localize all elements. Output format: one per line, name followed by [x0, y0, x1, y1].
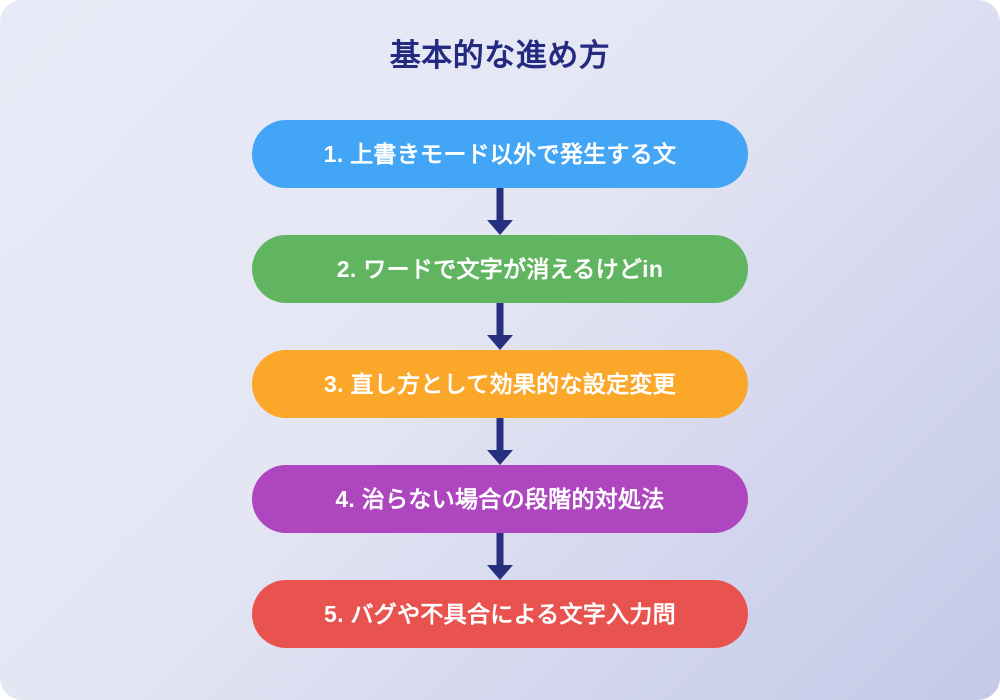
connector-arrow-4-5 — [252, 533, 748, 580]
arrow-down-icon — [487, 565, 513, 580]
step-label-2: 2. ワードで文字が消えるけどin — [337, 258, 663, 281]
step-label-4: 4. 治らない場合の段階的対処法 — [335, 488, 664, 511]
arrow-down-icon — [487, 220, 513, 235]
step-row: 2. ワードで文字が消えるけどin — [252, 235, 748, 303]
step-node-2[interactable]: 2. ワードで文字が消えるけどin — [252, 235, 748, 303]
step-node-3[interactable]: 3. 直し方として効果的な設定変更 — [252, 350, 748, 418]
arrow-down-icon — [487, 450, 513, 465]
arrow-line-icon — [497, 418, 504, 452]
step-label-3: 3. 直し方として効果的な設定変更 — [324, 373, 676, 396]
step-row: 1. 上書きモード以外で発生する文 — [252, 120, 748, 188]
step-row: 3. 直し方として効果的な設定変更 — [252, 350, 748, 418]
step-label-1: 1. 上書きモード以外で発生する文 — [324, 143, 677, 166]
arrow-down-icon — [487, 335, 513, 350]
connector-arrow-2-3 — [252, 303, 748, 350]
step-node-5[interactable]: 5. バグや不具合による文字入力問 — [252, 580, 748, 648]
connector-arrow-1-2 — [252, 188, 748, 235]
arrow-line-icon — [497, 188, 504, 222]
step-label-5: 5. バグや不具合による文字入力問 — [324, 603, 676, 626]
step-row: 5. バグや不具合による文字入力問 — [252, 580, 748, 648]
arrow-line-icon — [497, 533, 504, 567]
page-title: 基本的な進め方 — [0, 30, 1000, 75]
flowchart-canvas: 基本的な進め方 1. 上書きモード以外で発生する文 2. ワードで文字が消えるけ… — [0, 0, 1000, 700]
arrow-line-icon — [497, 303, 504, 337]
step-node-4[interactable]: 4. 治らない場合の段階的対処法 — [252, 465, 748, 533]
step-node-1[interactable]: 1. 上書きモード以外で発生する文 — [252, 120, 748, 188]
connector-arrow-3-4 — [252, 418, 748, 465]
step-row: 4. 治らない場合の段階的対処法 — [252, 465, 748, 533]
steps-stack: 1. 上書きモード以外で発生する文 2. ワードで文字が消えるけどin 3. 直… — [252, 120, 748, 648]
